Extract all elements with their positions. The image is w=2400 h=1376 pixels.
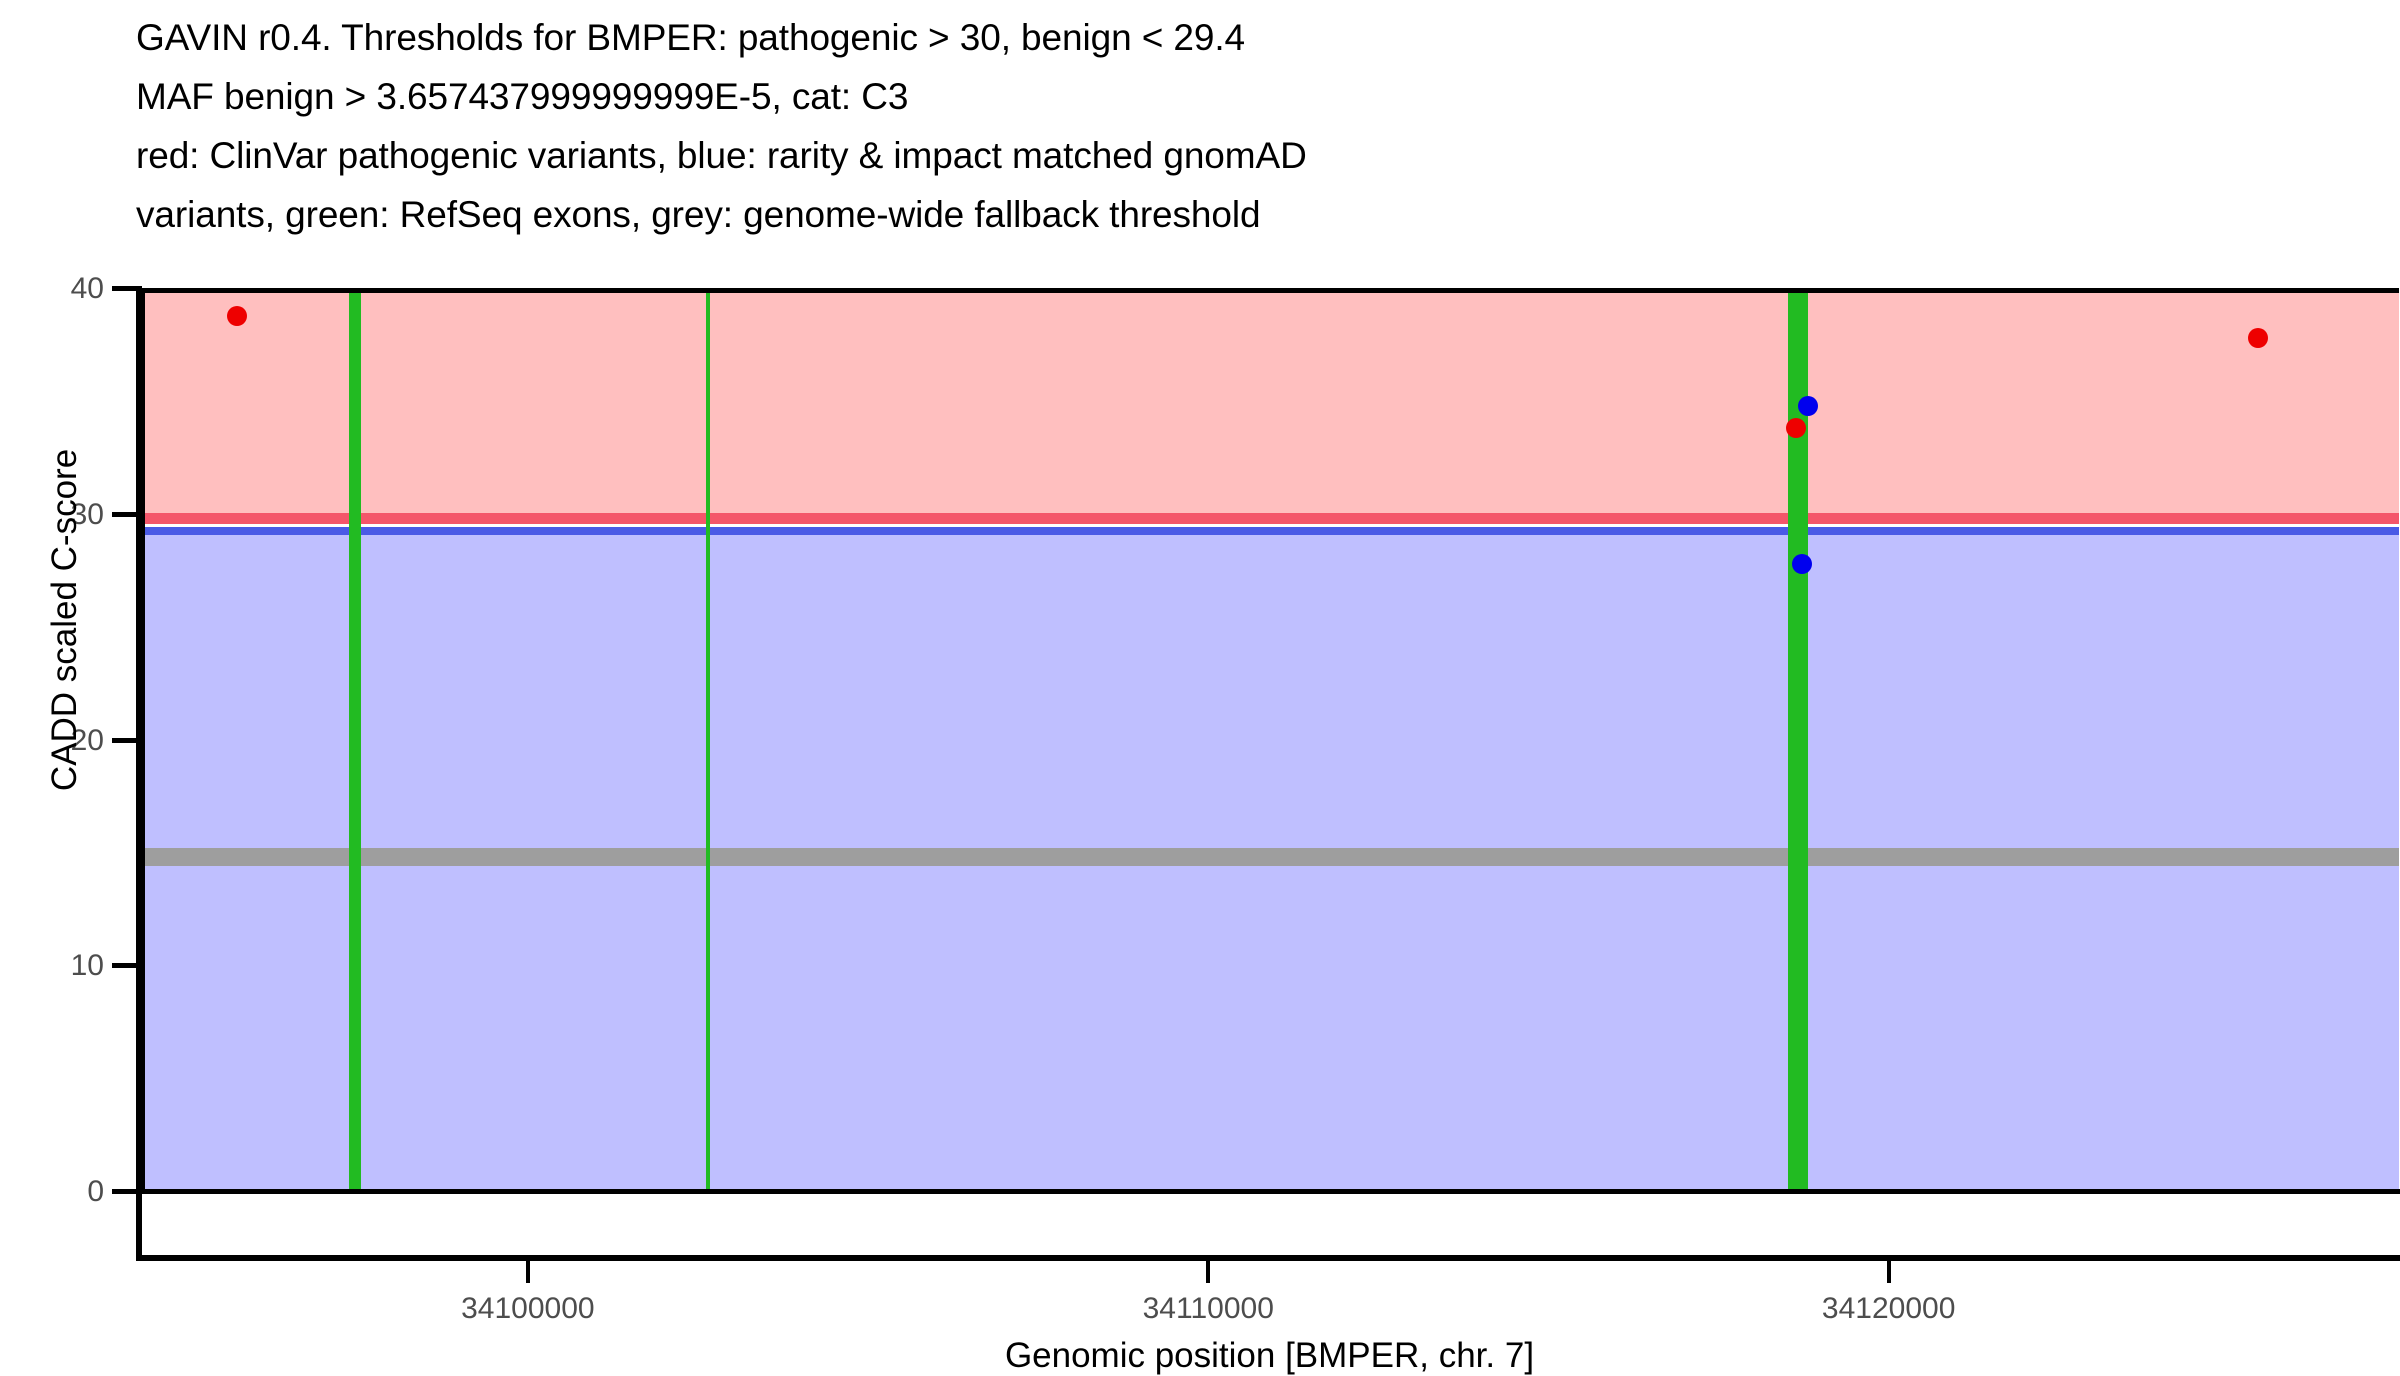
x-axis-tick-label: 34110000 xyxy=(1143,1292,1274,1326)
x-axis-tick xyxy=(1206,1261,1210,1283)
y-axis-tick xyxy=(112,1189,140,1194)
y-axis-tick xyxy=(112,512,140,517)
fallback-threshold-line xyxy=(145,848,2399,866)
y-axis-tick-label: 0 xyxy=(0,1175,104,1209)
plot-area xyxy=(140,288,2399,1191)
x-axis-tick-label: 34100000 xyxy=(461,1292,594,1326)
y-axis-title: CADD scaled C-score xyxy=(45,220,85,1020)
exon-marker xyxy=(349,293,361,1191)
chart-title-line-4: variants, green: RefSeq exons, grey: gen… xyxy=(136,185,2336,244)
exon-marker xyxy=(706,293,710,1191)
x-axis-tick-label: 34120000 xyxy=(1822,1292,1955,1326)
clinvar-variant-point[interactable] xyxy=(2248,328,2268,348)
x-axis-bottom-line xyxy=(136,1255,2400,1261)
y-axis-tick xyxy=(112,738,140,743)
y-axis-rail xyxy=(136,286,142,1261)
plot-inner xyxy=(145,293,2399,1191)
x-axis-tick xyxy=(526,1261,530,1283)
pathogenic-threshold-line xyxy=(145,513,2399,524)
y-axis-tick xyxy=(112,963,140,968)
clinvar-variant-point[interactable] xyxy=(227,306,247,326)
x-axis-tick xyxy=(1887,1261,1891,1283)
chart-title-line-1: GAVIN r0.4. Thresholds for BMPER: pathog… xyxy=(136,8,2336,67)
gnomad-variant-point[interactable] xyxy=(1798,396,1818,416)
y-axis-tick xyxy=(112,286,140,291)
chart-title-line-2: MAF benign > 3.657437999999999E-5, cat: … xyxy=(136,67,2336,126)
gnomad-variant-point[interactable] xyxy=(1792,554,1812,574)
x-axis-title: Genomic position [BMPER, chr. 7] xyxy=(140,1336,2399,1376)
pathogenic-region xyxy=(145,293,2399,518)
chart-title-line-3: red: ClinVar pathogenic variants, blue: … xyxy=(136,126,2336,185)
x-axis-top-line xyxy=(136,1189,2400,1194)
chart-title-block: GAVIN r0.4. Thresholds for BMPER: pathog… xyxy=(136,8,2336,244)
